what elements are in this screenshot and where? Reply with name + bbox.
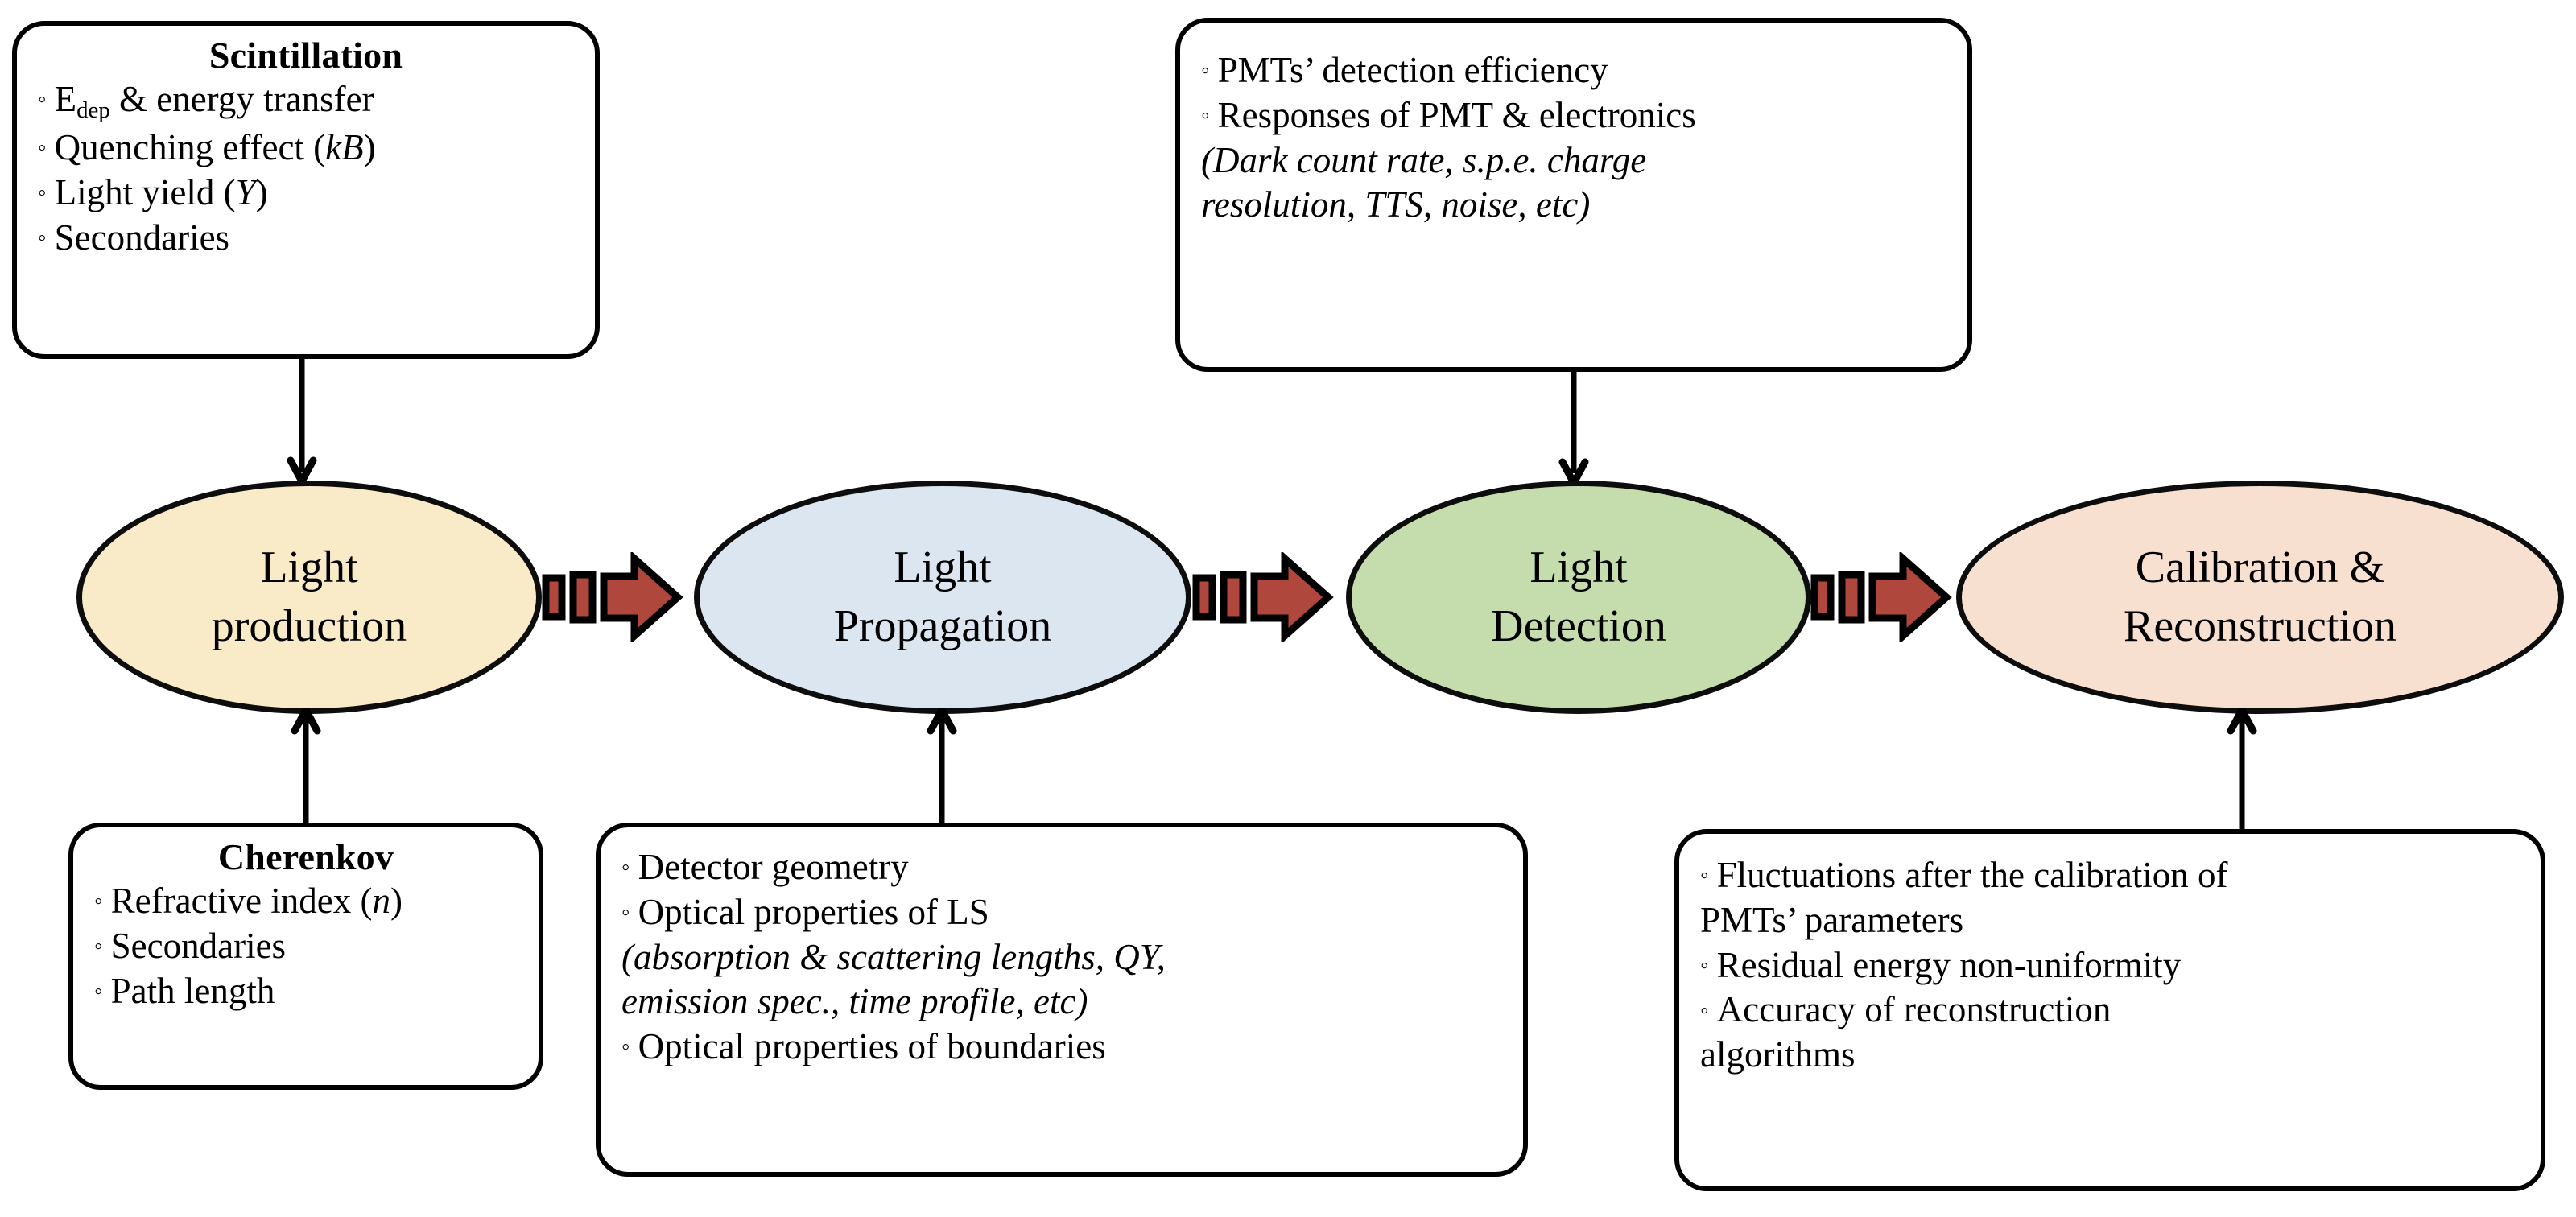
- list-item: ◦Responses of PMT & electronics: [1201, 93, 1946, 138]
- scint-item-3-text: Secondaries: [55, 217, 229, 258]
- scintillation-title: Scintillation: [38, 34, 574, 77]
- bullet-icon: ◦: [94, 978, 111, 1005]
- cher-item-1-text: Secondaries: [111, 926, 286, 966]
- bullet-icon: ◦: [38, 225, 55, 251]
- cherenkov-list: ◦Refractive index (n) ◦Secondaries ◦Path…: [94, 879, 518, 1013]
- pmt-response-box: ◦PMTs’ detection efficiency ◦Responses o…: [1175, 18, 1972, 372]
- pmt-item-0-text: PMTs’ detection efficiency: [1218, 50, 1608, 90]
- cal-item-2-line2: algorithms: [1700, 1034, 1855, 1075]
- scint-item-2-text: Light yield (: [55, 172, 236, 212]
- node-calibration-reconstruction-label: Calibration & Reconstruction: [2124, 538, 2396, 656]
- node-light-detection-line2: Detection: [1491, 601, 1666, 651]
- bullet-icon: ◦: [1700, 997, 1717, 1024]
- pmt-note-line-0: (Dark count rate, s.p.e. charge: [1201, 138, 1946, 184]
- connector-scintillation-to-light-production: [286, 359, 318, 485]
- list-item: ◦Path length: [94, 969, 518, 1014]
- list-item: ◦Fluctuations after the calibration of: [1700, 853, 2520, 898]
- node-light-propagation-line2: Propagation: [834, 601, 1052, 651]
- propagation-inputs-list-b: ◦Optical properties of boundaries: [621, 1025, 1502, 1070]
- bullet-icon: ◦: [1700, 862, 1717, 889]
- list-item: ◦Accuracy of reconstruction: [1700, 988, 2520, 1033]
- list-item: ◦Optical properties of LS: [621, 890, 1502, 935]
- bullet-icon: ◦: [38, 179, 55, 206]
- propagation-inputs-list-a: ◦Detector geometry ◦Optical properties o…: [621, 845, 1502, 935]
- bullet-icon: ◦: [38, 86, 55, 113]
- connector-cherenkov-to-light-production: [290, 708, 322, 829]
- list-item: ◦PMTs’ detection efficiency: [1201, 48, 1946, 93]
- node-light-detection-line1: Light: [1529, 542, 1627, 592]
- node-light-detection-label: Light Detection: [1491, 538, 1666, 656]
- cal-item-1-line1: Residual energy non-uniformity: [1717, 945, 2182, 985]
- bullet-icon: ◦: [94, 933, 111, 959]
- bullet-icon: ◦: [1201, 102, 1218, 129]
- bullet-icon: ◦: [621, 854, 638, 881]
- node-light-production-line1: Light: [260, 542, 357, 592]
- node-light-propagation-line1: Light: [894, 542, 991, 592]
- cherenkov-box: Cherenkov ◦Refractive index (n) ◦Seconda…: [68, 823, 543, 1090]
- scint-item-0-sub: dep: [76, 97, 110, 123]
- connector-propagation-inputs-to-light-propagation: [926, 708, 958, 829]
- prop-note-line-0: (absorption & scattering lengths, QY,: [621, 935, 1502, 980]
- scintillation-list: ◦Edep & energy transfer ◦Quenching effec…: [38, 77, 574, 260]
- prop-item-2-text: Optical properties of boundaries: [638, 1026, 1106, 1066]
- cherenkov-title: Cherenkov: [94, 835, 518, 879]
- node-light-production-label: Light production: [212, 538, 407, 656]
- flow-arrow-propagation-to-detection: [1191, 552, 1335, 642]
- list-item: ◦Quenching effect (kB): [38, 126, 574, 171]
- calibration-inputs-box: ◦Fluctuations after the calibration of P…: [1674, 829, 2545, 1191]
- bullet-icon: ◦: [621, 1033, 638, 1060]
- list-item-continuation: PMTs’ parameters: [1700, 898, 2520, 943]
- list-item: ◦Secondaries: [94, 924, 518, 969]
- cher-item-0-text: Refractive index (: [111, 881, 373, 921]
- node-calibration-reconstruction-line2: Reconstruction: [2124, 601, 2396, 651]
- list-item: ◦Light yield (Y): [38, 171, 574, 216]
- scint-item-1-tail: ): [364, 127, 376, 167]
- list-item: ◦Residual energy non-uniformity: [1700, 943, 2520, 988]
- connector-calibration-inputs-to-calibration-node: [2226, 708, 2258, 837]
- list-item: ◦Optical properties of boundaries: [621, 1025, 1502, 1070]
- bullet-icon: ◦: [1201, 57, 1218, 84]
- list-item-continuation: algorithms: [1700, 1033, 2520, 1078]
- list-item: ◦Detector geometry: [621, 845, 1502, 890]
- cher-item-2-text: Path length: [111, 971, 275, 1011]
- prop-item-1-text: Optical properties of LS: [638, 892, 989, 932]
- bullet-icon: ◦: [94, 888, 111, 914]
- scint-item-1-italic: kB: [325, 127, 363, 167]
- list-item: ◦Edep & energy transfer: [38, 77, 574, 126]
- list-item: ◦Secondaries: [38, 216, 574, 261]
- prop-item-0-text: Detector geometry: [638, 847, 909, 887]
- scint-item-0-post: & energy transfer: [110, 79, 374, 119]
- calibration-inputs-list: ◦Fluctuations after the calibration of P…: [1700, 853, 2520, 1078]
- cal-item-2-line1: Accuracy of reconstruction: [1717, 989, 2112, 1029]
- cher-item-0-tail: ): [390, 881, 402, 921]
- scint-item-2-tail: ): [256, 172, 268, 212]
- pmt-note-line-1: resolution, TTS, noise, etc): [1201, 183, 1946, 228]
- list-item: ◦Refractive index (n): [94, 879, 518, 924]
- scint-item-2-italic: Y: [236, 172, 256, 212]
- node-light-propagation[interactable]: Light Propagation: [694, 481, 1191, 714]
- node-calibration-reconstruction[interactable]: Calibration & Reconstruction: [1956, 481, 2564, 714]
- propagation-inputs-box: ◦Detector geometry ◦Optical properties o…: [596, 823, 1528, 1177]
- pmt-item-1-text: Responses of PMT & electronics: [1218, 95, 1696, 135]
- node-light-production[interactable]: Light production: [76, 481, 542, 714]
- node-light-propagation-label: Light Propagation: [834, 538, 1052, 656]
- cher-item-0-italic: n: [372, 881, 390, 921]
- cal-item-0-line1: Fluctuations after the calibration of: [1717, 855, 2228, 895]
- flow-arrow-detection-to-calibration: [1810, 552, 1953, 642]
- bullet-icon: ◦: [1700, 952, 1717, 979]
- flow-arrow-production-to-propagation: [541, 552, 684, 642]
- scint-item-1-text: Quenching effect (: [55, 127, 326, 167]
- node-light-detection[interactable]: Light Detection: [1346, 481, 1811, 714]
- node-calibration-reconstruction-line1: Calibration &: [2136, 542, 2385, 592]
- node-light-production-line2: production: [212, 601, 407, 651]
- pmt-response-list: ◦PMTs’ detection efficiency ◦Responses o…: [1201, 48, 1946, 138]
- bullet-icon: ◦: [38, 134, 55, 161]
- cal-item-0-line2: PMTs’ parameters: [1700, 900, 1963, 940]
- connector-pmt-to-light-detection: [1558, 372, 1590, 486]
- scintillation-box: Scintillation ◦Edep & energy transfer ◦Q…: [12, 21, 600, 359]
- scint-item-0-pre: E: [55, 79, 77, 119]
- prop-note-line-1: emission spec., time profile, etc): [621, 980, 1502, 1025]
- bullet-icon: ◦: [621, 899, 638, 926]
